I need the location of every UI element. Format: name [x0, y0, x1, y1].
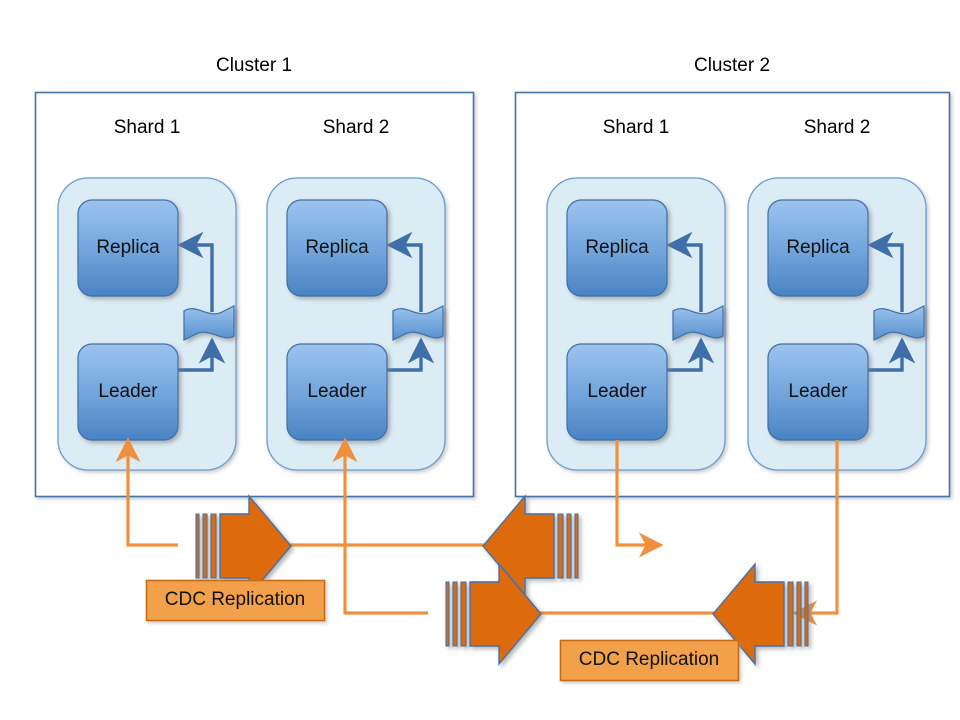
c1-s1-leader-label: Leader [78, 344, 178, 440]
c1-s2-leader-label: Leader [287, 344, 387, 440]
cluster-1-title: Cluster 1 [35, 55, 473, 77]
c2-s1-replica-label: Replica [567, 200, 667, 296]
c2-s1-leader-label: Leader [567, 344, 667, 440]
c1-shard-1-title: Shard 1 [58, 117, 236, 139]
c2-shard-2-title: Shard 2 [748, 117, 926, 139]
c2-shard-1-title: Shard 1 [547, 117, 725, 139]
cdc-arrow-bottom-left[interactable] [446, 564, 541, 664]
cluster-2-title: Cluster 2 [515, 55, 949, 77]
cdc-label-top-text: CDC Replication [146, 580, 324, 620]
c2-s2-leader-label: Leader [768, 344, 868, 440]
c1-s1-replica-label: Replica [78, 200, 178, 296]
c1-shard-2-title: Shard 2 [267, 117, 445, 139]
c1-s2-replica-label: Replica [287, 200, 387, 296]
cdc-arrow-top-right[interactable] [483, 496, 578, 596]
diagram-canvas: (down)--> right of big arrow, through le… [0, 0, 960, 720]
c2-s2-replica-label: Replica [768, 200, 868, 296]
cdc-label-bottom-text: CDC Replication [560, 640, 738, 680]
